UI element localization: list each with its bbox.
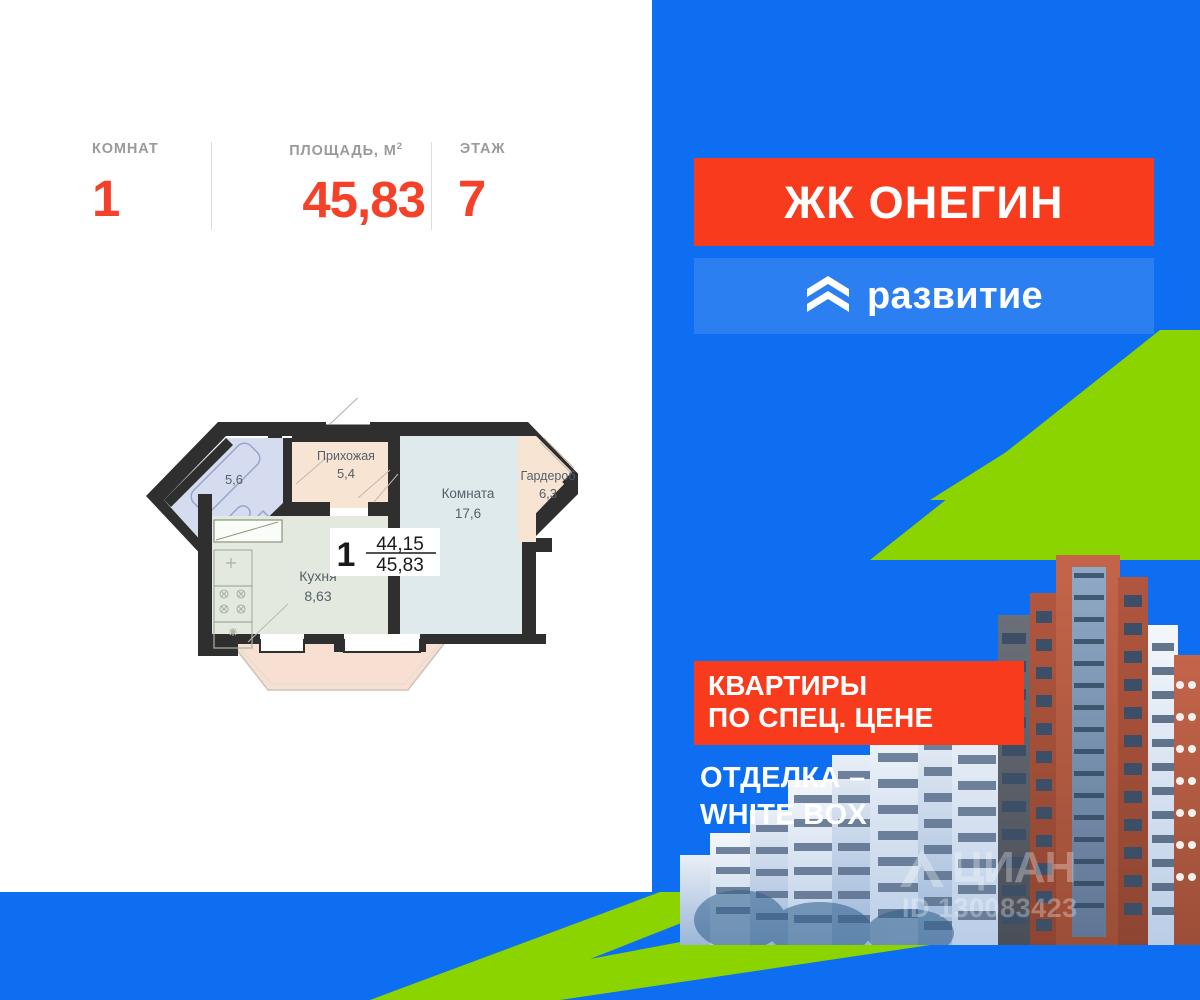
floorplan-card: КОМНАТ 1 ПЛОЩАДЬ, М2 45,83 ЭТАЖ 7: [0, 0, 652, 892]
room-hallway-label: Прихожая: [317, 449, 375, 463]
stat-area-label: ПЛОЩАДЬ, М2: [212, 142, 425, 158]
area-badge-living: 44,15: [376, 534, 424, 555]
developer-banner: развитие: [694, 258, 1154, 334]
room-main-label: Комната: [442, 486, 495, 501]
developer-name-text: развитие: [867, 277, 1043, 315]
area-badge-rooms: 1: [337, 536, 356, 574]
project-name-banner: ЖК ОНЕГИН: [694, 158, 1154, 246]
promo-subtitle: ОТДЕЛКА – WHITE BOX: [700, 760, 1120, 834]
stat-floor-label: ЭТАЖ: [458, 142, 562, 157]
promo-highlight-line-2: ПО СПЕЦ. ЦЕНЕ: [708, 702, 1010, 734]
promo-highlight-banner: КВАРТИРЫ ПО СПЕЦ. ЦЕНЕ: [694, 661, 1024, 745]
area-badge: 1 44,15 45,83: [330, 528, 440, 576]
chevron-stack-icon: [805, 274, 851, 318]
stat-floor: ЭТАЖ 7: [432, 142, 562, 224]
stat-rooms: КОМНАТ 1: [92, 142, 211, 224]
stat-area-superscript: 2: [397, 141, 403, 152]
screenshot-root: ЖК ОНЕГИН развитие КВАРТИРЫ ПО СПЕЦ. ЦЕН…: [0, 0, 1200, 1000]
room-wardrobe-area: 6,3: [539, 486, 557, 501]
room-wardrobe-label: Гардероб: [521, 469, 576, 483]
promo-highlight-line-1: КВАРТИРЫ: [708, 670, 1010, 702]
floorplan-svg: 5,6: [78, 398, 578, 728]
stat-rooms-label: КОМНАТ: [92, 142, 211, 157]
stat-floor-value: 7: [458, 173, 562, 224]
stat-rooms-value: 1: [92, 173, 211, 224]
promo-subtitle-line-1: ОТДЕЛКА –: [700, 760, 1120, 797]
project-name-text: ЖК ОНЕГИН: [784, 180, 1063, 225]
promo-subtitle-line-2: WHITE BOX: [700, 797, 1120, 834]
windows: [260, 634, 426, 652]
stat-area: ПЛОЩАДЬ, М2 45,83: [212, 142, 431, 225]
room-bathroom-area: 5,6: [225, 472, 243, 487]
stat-area-value: 45,83: [212, 174, 425, 225]
floorplan-drawing: 5,6: [78, 398, 578, 728]
room-kitchen-area: 8,63: [304, 588, 331, 604]
area-badge-total: 45,83: [376, 555, 424, 576]
building-photo: [680, 355, 1200, 945]
room-main-area: 17,6: [455, 506, 481, 521]
room-hallway-area: 5,4: [337, 466, 355, 481]
apartment-stats: КОМНАТ 1 ПЛОЩАДЬ, М2 45,83 ЭТАЖ 7: [92, 142, 562, 247]
